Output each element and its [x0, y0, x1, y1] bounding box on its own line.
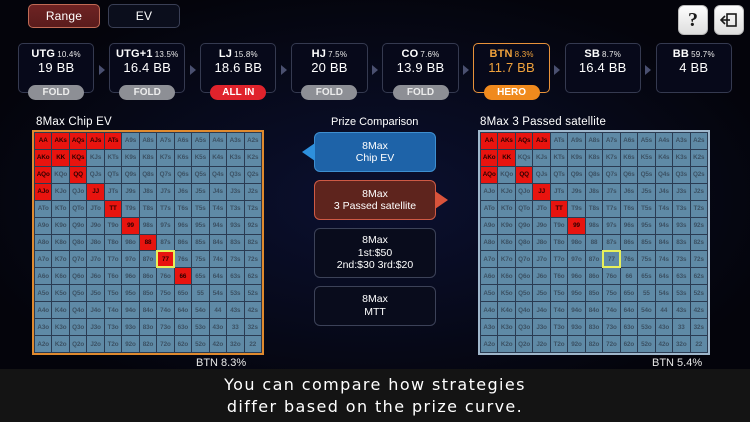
hand-cell-T5s[interactable]: T5s	[192, 201, 208, 217]
hand-cell-AJo[interactable]: AJo	[35, 184, 51, 200]
hand-cell-74o[interactable]: 74o	[157, 302, 173, 318]
hand-cell-T7o[interactable]: T7o	[551, 251, 567, 267]
hand-cell-T7s[interactable]: T7s	[157, 201, 173, 217]
seat-hj[interactable]: HJ7.5%20 BBFOLD	[291, 43, 367, 93]
hand-cell-43o[interactable]: 43o	[210, 319, 226, 335]
hand-cell-95s[interactable]: 95s	[638, 218, 654, 234]
hand-cell-93s[interactable]: 93s	[673, 218, 689, 234]
hand-cell-KTs[interactable]: KTs	[105, 150, 121, 166]
hand-cell-ATs[interactable]: ATs	[105, 133, 121, 149]
hand-cell-A4s[interactable]: A4s	[656, 133, 672, 149]
hand-cell-J5s[interactable]: J5s	[638, 184, 654, 200]
hand-cell-AKo[interactable]: AKo	[35, 150, 51, 166]
hand-cell-42s[interactable]: 42s	[691, 302, 707, 318]
hand-cell-82s[interactable]: 82s	[691, 235, 707, 251]
hand-cell-87o[interactable]: 87o	[140, 251, 156, 267]
hand-cell-J6o[interactable]: J6o	[533, 268, 549, 284]
hand-cell-75o[interactable]: 75o	[157, 285, 173, 301]
hand-cell-76s[interactable]: 76s	[621, 251, 637, 267]
hand-cell-Q3s[interactable]: Q3s	[227, 167, 243, 183]
hand-cell-A4o[interactable]: A4o	[481, 302, 497, 318]
hand-cell-K9o[interactable]: K9o	[52, 218, 68, 234]
hand-cell-66[interactable]: 66	[175, 268, 191, 284]
hand-cell-A4s[interactable]: A4s	[210, 133, 226, 149]
hand-cell-65o[interactable]: 65o	[175, 285, 191, 301]
hand-cell-97s[interactable]: 97s	[603, 218, 619, 234]
hand-cell-A3s[interactable]: A3s	[227, 133, 243, 149]
hand-cell-K3s[interactable]: K3s	[227, 150, 243, 166]
hand-cell-33[interactable]: 33	[227, 319, 243, 335]
hand-cell-72o[interactable]: 72o	[157, 336, 173, 352]
hand-cell-A8o[interactable]: A8o	[35, 235, 51, 251]
hand-cell-64o[interactable]: 64o	[175, 302, 191, 318]
hand-cell-AKs[interactable]: AKs	[498, 133, 514, 149]
hand-cell-54s[interactable]: 54s	[656, 285, 672, 301]
hand-cell-J7o[interactable]: J7o	[87, 251, 103, 267]
hand-cell-92o[interactable]: 92o	[568, 336, 584, 352]
hand-cell-K4o[interactable]: K4o	[52, 302, 68, 318]
hand-cell-32s[interactable]: 32s	[245, 319, 261, 335]
hand-cell-76o[interactable]: 76o	[157, 268, 173, 284]
hand-cell-63s[interactable]: 63s	[673, 268, 689, 284]
hand-cell-T7o[interactable]: T7o	[105, 251, 121, 267]
hand-cell-85o[interactable]: 85o	[140, 285, 156, 301]
hand-cell-A9o[interactable]: A9o	[481, 218, 497, 234]
hand-cell-J5o[interactable]: J5o	[533, 285, 549, 301]
hand-cell-A5o[interactable]: A5o	[35, 285, 51, 301]
hand-cell-A9s[interactable]: A9s	[122, 133, 138, 149]
hand-cell-A2o[interactable]: A2o	[35, 336, 51, 352]
hand-cell-92s[interactable]: 92s	[691, 218, 707, 234]
hand-cell-75o[interactable]: 75o	[603, 285, 619, 301]
hand-cell-K7s[interactable]: K7s	[603, 150, 619, 166]
hand-cell-J3o[interactable]: J3o	[533, 319, 549, 335]
hand-cell-42o[interactable]: 42o	[656, 336, 672, 352]
hand-cell-84o[interactable]: 84o	[586, 302, 602, 318]
hand-cell-AJs[interactable]: AJs	[87, 133, 103, 149]
hand-cell-44[interactable]: 44	[656, 302, 672, 318]
hand-cell-AKs[interactable]: AKs	[52, 133, 68, 149]
hand-cell-75s[interactable]: 75s	[192, 251, 208, 267]
hand-cell-A9o[interactable]: A9o	[35, 218, 51, 234]
hand-cell-42o[interactable]: 42o	[210, 336, 226, 352]
hand-cell-QJs[interactable]: QJs	[87, 167, 103, 183]
hand-cell-J8o[interactable]: J8o	[87, 235, 103, 251]
hand-cell-Q6o[interactable]: Q6o	[516, 268, 532, 284]
hand-cell-AA[interactable]: AA	[35, 133, 51, 149]
hand-cell-62s[interactable]: 62s	[691, 268, 707, 284]
hand-cell-J6s[interactable]: J6s	[175, 184, 191, 200]
hand-cell-T5o[interactable]: T5o	[105, 285, 121, 301]
seat-co[interactable]: CO7.6%13.9 BBFOLD	[382, 43, 458, 93]
hand-cell-53s[interactable]: 53s	[673, 285, 689, 301]
hand-cell-K5o[interactable]: K5o	[52, 285, 68, 301]
hand-cell-Q4s[interactable]: Q4s	[210, 167, 226, 183]
hand-cell-Q7o[interactable]: Q7o	[516, 251, 532, 267]
hand-cell-97s[interactable]: 97s	[157, 218, 173, 234]
hand-cell-53s[interactable]: 53s	[227, 285, 243, 301]
hand-cell-JTs[interactable]: JTs	[551, 184, 567, 200]
hand-cell-84s[interactable]: 84s	[210, 235, 226, 251]
hand-cell-K7o[interactable]: K7o	[52, 251, 68, 267]
hand-cell-95o[interactable]: 95o	[568, 285, 584, 301]
hand-cell-82s[interactable]: 82s	[245, 235, 261, 251]
hand-cell-QTs[interactable]: QTs	[105, 167, 121, 183]
hand-cell-73o[interactable]: 73o	[157, 319, 173, 335]
hand-cell-76s[interactable]: 76s	[175, 251, 191, 267]
hand-cell-J4o[interactable]: J4o	[87, 302, 103, 318]
hand-cell-33[interactable]: 33	[673, 319, 689, 335]
hand-cell-A3s[interactable]: A3s	[673, 133, 689, 149]
hand-cell-A6s[interactable]: A6s	[175, 133, 191, 149]
hand-cell-Q9o[interactable]: Q9o	[516, 218, 532, 234]
hand-cell-QJo[interactable]: QJo	[70, 184, 86, 200]
hand-cell-Q6s[interactable]: Q6s	[175, 167, 191, 183]
hand-cell-JJ[interactable]: JJ	[533, 184, 549, 200]
hand-cell-97o[interactable]: 97o	[568, 251, 584, 267]
hand-cell-T3s[interactable]: T3s	[227, 201, 243, 217]
seat-bb[interactable]: BB59.7%4 BB	[656, 43, 732, 93]
hand-cell-J3s[interactable]: J3s	[227, 184, 243, 200]
seat-lj[interactable]: LJ15.8%18.6 BBALL IN	[200, 43, 276, 93]
hand-cell-95o[interactable]: 95o	[122, 285, 138, 301]
hand-cell-T6s[interactable]: T6s	[175, 201, 191, 217]
hand-cell-87s[interactable]: 87s	[603, 235, 619, 251]
hand-cell-98o[interactable]: 98o	[122, 235, 138, 251]
hand-cell-T4o[interactable]: T4o	[105, 302, 121, 318]
hand-cell-T2s[interactable]: T2s	[245, 201, 261, 217]
hand-cell-KQs[interactable]: KQs	[70, 150, 86, 166]
hand-cell-Q7o[interactable]: Q7o	[70, 251, 86, 267]
hand-cell-T8s[interactable]: T8s	[586, 201, 602, 217]
hand-cell-A7o[interactable]: A7o	[481, 251, 497, 267]
hand-cell-Q2s[interactable]: Q2s	[691, 167, 707, 183]
hand-cell-88[interactable]: 88	[586, 235, 602, 251]
hand-cell-64o[interactable]: 64o	[621, 302, 637, 318]
hand-cell-53o[interactable]: 53o	[192, 319, 208, 335]
hand-cell-K7s[interactable]: K7s	[157, 150, 173, 166]
hand-cell-77[interactable]: 77	[603, 251, 619, 267]
hand-cell-A8s[interactable]: A8s	[140, 133, 156, 149]
hand-cell-A6o[interactable]: A6o	[481, 268, 497, 284]
seat-sb[interactable]: SB8.7%16.4 BB	[565, 43, 641, 93]
hand-cell-43o[interactable]: 43o	[656, 319, 672, 335]
hand-cell-96s[interactable]: 96s	[621, 218, 637, 234]
hand-cell-Q8s[interactable]: Q8s	[586, 167, 602, 183]
hand-cell-K9s[interactable]: K9s	[568, 150, 584, 166]
hand-cell-82o[interactable]: 82o	[140, 336, 156, 352]
hand-cell-63o[interactable]: 63o	[175, 319, 191, 335]
hand-cell-62o[interactable]: 62o	[175, 336, 191, 352]
hand-cell-K5s[interactable]: K5s	[638, 150, 654, 166]
hand-cell-95s[interactable]: 95s	[192, 218, 208, 234]
hand-cell-K8s[interactable]: K8s	[586, 150, 602, 166]
hand-cell-54s[interactable]: 54s	[210, 285, 226, 301]
hand-cell-JTo[interactable]: JTo	[87, 201, 103, 217]
hand-cell-KQo[interactable]: KQo	[52, 167, 68, 183]
hand-cell-98s[interactable]: 98s	[586, 218, 602, 234]
hand-cell-AQo[interactable]: AQo	[481, 167, 497, 183]
hand-cell-J6s[interactable]: J6s	[621, 184, 637, 200]
hand-cell-K3o[interactable]: K3o	[498, 319, 514, 335]
hand-cell-83o[interactable]: 83o	[586, 319, 602, 335]
hand-cell-KQo[interactable]: KQo	[498, 167, 514, 183]
hand-cell-JJ[interactable]: JJ	[87, 184, 103, 200]
hand-cell-QTs[interactable]: QTs	[551, 167, 567, 183]
hand-cell-KTo[interactable]: KTo	[498, 201, 514, 217]
hand-cell-64s[interactable]: 64s	[210, 268, 226, 284]
hand-cell-A6o[interactable]: A6o	[35, 268, 51, 284]
hand-cell-T2o[interactable]: T2o	[105, 336, 121, 352]
hand-cell-J7s[interactable]: J7s	[603, 184, 619, 200]
hand-cell-K9s[interactable]: K9s	[122, 150, 138, 166]
hand-cell-A2s[interactable]: A2s	[691, 133, 707, 149]
seat-btn[interactable]: BTN8.3%11.7 BBHERO	[473, 43, 549, 93]
hand-cell-ATs[interactable]: ATs	[551, 133, 567, 149]
hand-cell-87o[interactable]: 87o	[586, 251, 602, 267]
hand-cell-K5o[interactable]: K5o	[498, 285, 514, 301]
hand-cell-98o[interactable]: 98o	[568, 235, 584, 251]
hand-cell-Q8s[interactable]: Q8s	[140, 167, 156, 183]
hand-cell-Q9o[interactable]: Q9o	[70, 218, 86, 234]
hand-cell-72s[interactable]: 72s	[245, 251, 261, 267]
hand-cell-96o[interactable]: 96o	[568, 268, 584, 284]
hand-cell-Q3o[interactable]: Q3o	[516, 319, 532, 335]
hand-cell-77[interactable]: 77	[157, 251, 173, 267]
hand-cell-K6s[interactable]: K6s	[175, 150, 191, 166]
hand-cell-K2o[interactable]: K2o	[498, 336, 514, 352]
hand-cell-Q5s[interactable]: Q5s	[192, 167, 208, 183]
hand-cell-55[interactable]: 55	[638, 285, 654, 301]
hand-cell-87s[interactable]: 87s	[157, 235, 173, 251]
hand-cell-Q2s[interactable]: Q2s	[245, 167, 261, 183]
hand-cell-93o[interactable]: 93o	[122, 319, 138, 335]
hand-cell-T8o[interactable]: T8o	[105, 235, 121, 251]
hand-cell-J4s[interactable]: J4s	[656, 184, 672, 200]
hand-cell-K3o[interactable]: K3o	[52, 319, 68, 335]
hand-cell-K2s[interactable]: K2s	[691, 150, 707, 166]
hand-cell-72s[interactable]: 72s	[691, 251, 707, 267]
hand-cell-Q8o[interactable]: Q8o	[70, 235, 86, 251]
hand-cell-ATo[interactable]: ATo	[481, 201, 497, 217]
tab-range[interactable]: Range	[28, 4, 100, 28]
hand-cell-QJs[interactable]: QJs	[533, 167, 549, 183]
hand-cell-TT[interactable]: TT	[105, 201, 121, 217]
hand-cell-32o[interactable]: 32o	[673, 336, 689, 352]
hand-cell-75s[interactable]: 75s	[638, 251, 654, 267]
hand-cell-86o[interactable]: 86o	[586, 268, 602, 284]
hand-cell-K2o[interactable]: K2o	[52, 336, 68, 352]
prize-option-4[interactable]: 8MaxMTT	[314, 286, 436, 326]
prize-option-2[interactable]: 8Max3 Passed satellite	[314, 180, 436, 220]
hand-cell-97o[interactable]: 97o	[122, 251, 138, 267]
hand-cell-73o[interactable]: 73o	[603, 319, 619, 335]
hand-cell-KTo[interactable]: KTo	[52, 201, 68, 217]
hand-cell-74s[interactable]: 74s	[656, 251, 672, 267]
hand-cell-J2s[interactable]: J2s	[691, 184, 707, 200]
hand-cell-62o[interactable]: 62o	[621, 336, 637, 352]
hand-cell-J5s[interactable]: J5s	[192, 184, 208, 200]
hand-cell-KK[interactable]: KK	[498, 150, 514, 166]
hand-cell-63o[interactable]: 63o	[621, 319, 637, 335]
hand-cell-52o[interactable]: 52o	[638, 336, 654, 352]
hand-cell-T4o[interactable]: T4o	[551, 302, 567, 318]
hand-cell-A5s[interactable]: A5s	[638, 133, 654, 149]
hand-cell-T5s[interactable]: T5s	[638, 201, 654, 217]
hand-cell-K6s[interactable]: K6s	[621, 150, 637, 166]
hand-cell-Q4s[interactable]: Q4s	[656, 167, 672, 183]
hand-cell-22[interactable]: 22	[245, 336, 261, 352]
hand-cell-Q4o[interactable]: Q4o	[70, 302, 86, 318]
hand-cell-T3o[interactable]: T3o	[105, 319, 121, 335]
hand-cell-65s[interactable]: 65s	[638, 268, 654, 284]
hand-cell-62s[interactable]: 62s	[245, 268, 261, 284]
hand-cell-T6o[interactable]: T6o	[105, 268, 121, 284]
hand-cell-A2s[interactable]: A2s	[245, 133, 261, 149]
hand-cell-84s[interactable]: 84s	[656, 235, 672, 251]
prize-option-1[interactable]: 8MaxChip EV	[314, 132, 436, 172]
hand-cell-52s[interactable]: 52s	[245, 285, 261, 301]
hand-cell-A3o[interactable]: A3o	[35, 319, 51, 335]
hand-cell-J2s[interactable]: J2s	[245, 184, 261, 200]
hand-cell-J4o[interactable]: J4o	[533, 302, 549, 318]
hand-cell-85s[interactable]: 85s	[638, 235, 654, 251]
hand-cell-QQ[interactable]: QQ	[70, 167, 86, 183]
hand-cell-Q6o[interactable]: Q6o	[70, 268, 86, 284]
hand-cell-86s[interactable]: 86s	[175, 235, 191, 251]
hand-cell-A7s[interactable]: A7s	[603, 133, 619, 149]
hand-cell-74o[interactable]: 74o	[603, 302, 619, 318]
hand-cell-Q7s[interactable]: Q7s	[603, 167, 619, 183]
hand-cell-AJo[interactable]: AJo	[481, 184, 497, 200]
hand-cell-94o[interactable]: 94o	[122, 302, 138, 318]
hand-cell-82o[interactable]: 82o	[586, 336, 602, 352]
hand-cell-KK[interactable]: KK	[52, 150, 68, 166]
hand-cell-QJo[interactable]: QJo	[516, 184, 532, 200]
hand-cell-T2o[interactable]: T2o	[551, 336, 567, 352]
hand-cell-T6o[interactable]: T6o	[551, 268, 567, 284]
hand-cell-K8o[interactable]: K8o	[498, 235, 514, 251]
hand-cell-Q5o[interactable]: Q5o	[516, 285, 532, 301]
hand-cell-A7o[interactable]: A7o	[35, 251, 51, 267]
hand-cell-KJs[interactable]: KJs	[533, 150, 549, 166]
hand-cell-J8s[interactable]: J8s	[140, 184, 156, 200]
hand-cell-88[interactable]: 88	[140, 235, 156, 251]
hand-cell-Q2o[interactable]: Q2o	[70, 336, 86, 352]
hand-cell-K4s[interactable]: K4s	[656, 150, 672, 166]
hand-cell-Q5s[interactable]: Q5s	[638, 167, 654, 183]
hand-cell-65s[interactable]: 65s	[192, 268, 208, 284]
hand-cell-K7o[interactable]: K7o	[498, 251, 514, 267]
hand-cell-K5s[interactable]: K5s	[192, 150, 208, 166]
hand-cell-64s[interactable]: 64s	[656, 268, 672, 284]
hand-cell-AA[interactable]: AA	[481, 133, 497, 149]
hand-cell-32s[interactable]: 32s	[691, 319, 707, 335]
help-button[interactable]: ?	[678, 5, 708, 35]
hand-cell-52o[interactable]: 52o	[192, 336, 208, 352]
hand-cell-66[interactable]: 66	[621, 268, 637, 284]
hand-cell-AKo[interactable]: AKo	[481, 150, 497, 166]
hand-cell-72o[interactable]: 72o	[603, 336, 619, 352]
hand-cell-92o[interactable]: 92o	[122, 336, 138, 352]
hand-cell-94s[interactable]: 94s	[210, 218, 226, 234]
hand-cell-T8o[interactable]: T8o	[551, 235, 567, 251]
hand-cell-KTs[interactable]: KTs	[551, 150, 567, 166]
hand-cell-63s[interactable]: 63s	[227, 268, 243, 284]
hand-cell-J9o[interactable]: J9o	[87, 218, 103, 234]
hand-cell-A7s[interactable]: A7s	[157, 133, 173, 149]
hand-cell-T9o[interactable]: T9o	[551, 218, 567, 234]
hand-cell-JTs[interactable]: JTs	[105, 184, 121, 200]
hand-cell-Q4o[interactable]: Q4o	[516, 302, 532, 318]
hand-cell-A6s[interactable]: A6s	[621, 133, 637, 149]
hand-cell-42s[interactable]: 42s	[245, 302, 261, 318]
left-hand-matrix[interactable]: AAAKsAQsAJsATsA9sA8sA7sA6sA5sA4sA3sA2sAK…	[32, 130, 264, 355]
hand-cell-T5o[interactable]: T5o	[551, 285, 567, 301]
hand-cell-94s[interactable]: 94s	[656, 218, 672, 234]
hand-cell-93o[interactable]: 93o	[568, 319, 584, 335]
hand-cell-A2o[interactable]: A2o	[481, 336, 497, 352]
hand-cell-J2o[interactable]: J2o	[87, 336, 103, 352]
hand-cell-J8s[interactable]: J8s	[586, 184, 602, 200]
hand-cell-83s[interactable]: 83s	[227, 235, 243, 251]
hand-cell-32o[interactable]: 32o	[227, 336, 243, 352]
hand-cell-Q5o[interactable]: Q5o	[70, 285, 86, 301]
prize-option-3[interactable]: 8Max1st:$502nd:$30 3rd:$20	[314, 228, 436, 278]
hand-cell-Q7s[interactable]: Q7s	[157, 167, 173, 183]
hand-cell-43s[interactable]: 43s	[673, 302, 689, 318]
hand-cell-J3o[interactable]: J3o	[87, 319, 103, 335]
hand-cell-J9s[interactable]: J9s	[568, 184, 584, 200]
hand-cell-AJs[interactable]: AJs	[533, 133, 549, 149]
hand-cell-K3s[interactable]: K3s	[673, 150, 689, 166]
hand-cell-J4s[interactable]: J4s	[210, 184, 226, 200]
hand-cell-53o[interactable]: 53o	[638, 319, 654, 335]
hand-cell-K2s[interactable]: K2s	[245, 150, 261, 166]
hand-cell-ATo[interactable]: ATo	[35, 201, 51, 217]
hand-cell-J2o[interactable]: J2o	[533, 336, 549, 352]
hand-cell-99[interactable]: 99	[122, 218, 138, 234]
hand-cell-A5s[interactable]: A5s	[192, 133, 208, 149]
hand-cell-AQo[interactable]: AQo	[35, 167, 51, 183]
hand-cell-T3s[interactable]: T3s	[673, 201, 689, 217]
hand-cell-K4o[interactable]: K4o	[498, 302, 514, 318]
hand-cell-96s[interactable]: 96s	[175, 218, 191, 234]
hand-cell-K4s[interactable]: K4s	[210, 150, 226, 166]
hand-cell-T6s[interactable]: T6s	[621, 201, 637, 217]
hand-cell-73s[interactable]: 73s	[227, 251, 243, 267]
hand-cell-A3o[interactable]: A3o	[481, 319, 497, 335]
hand-cell-A8o[interactable]: A8o	[481, 235, 497, 251]
hand-cell-J9o[interactable]: J9o	[533, 218, 549, 234]
hand-cell-T7s[interactable]: T7s	[603, 201, 619, 217]
hand-cell-AQs[interactable]: AQs	[70, 133, 86, 149]
hand-cell-44[interactable]: 44	[210, 302, 226, 318]
hand-cell-Q6s[interactable]: Q6s	[621, 167, 637, 183]
hand-cell-K6o[interactable]: K6o	[52, 268, 68, 284]
hand-cell-TT[interactable]: TT	[551, 201, 567, 217]
hand-cell-K6o[interactable]: K6o	[498, 268, 514, 284]
hand-cell-Q3o[interactable]: Q3o	[70, 319, 86, 335]
hand-cell-QQ[interactable]: QQ	[516, 167, 532, 183]
hand-cell-K8o[interactable]: K8o	[52, 235, 68, 251]
hand-cell-KJs[interactable]: KJs	[87, 150, 103, 166]
hand-cell-KQs[interactable]: KQs	[516, 150, 532, 166]
hand-cell-J7o[interactable]: J7o	[533, 251, 549, 267]
hand-cell-86s[interactable]: 86s	[621, 235, 637, 251]
hand-cell-55[interactable]: 55	[192, 285, 208, 301]
hand-cell-98s[interactable]: 98s	[140, 218, 156, 234]
